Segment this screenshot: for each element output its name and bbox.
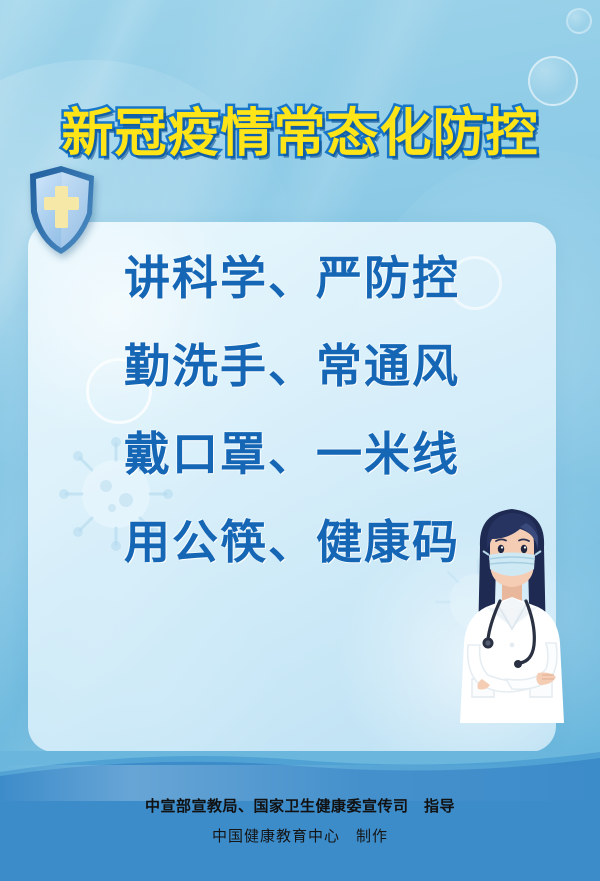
footer-band: 中宣部宣教局、国家卫生健康委宣传司 指导 中国健康教育中心 制作 (0, 751, 600, 881)
doctor-illustration (442, 493, 582, 733)
footer-line-guidance: 中宣部宣教局、国家卫生健康委宣传司 指导 (0, 795, 600, 816)
slogan-line-2: 勤洗手、常通风 (28, 343, 556, 389)
slogan-line-1: 讲科学、严防控 (28, 255, 556, 301)
slogan-line-3: 戴口罩、一米线 (28, 431, 556, 477)
footer-text-block: 中宣部宣教局、国家卫生健康委宣传司 指导 中国健康教育中心 制作 (0, 795, 600, 846)
title-block: 新冠疫情常态化防控 (0, 108, 600, 160)
bubble-icon (528, 56, 578, 106)
footer-line-producer: 中国健康教育中心 制作 (0, 825, 600, 846)
poster-root: 新冠疫情常态化防控 (0, 0, 600, 881)
shield-icon (22, 164, 100, 256)
bubble-icon (566, 8, 592, 34)
poster-title: 新冠疫情常态化防控 (61, 108, 538, 160)
